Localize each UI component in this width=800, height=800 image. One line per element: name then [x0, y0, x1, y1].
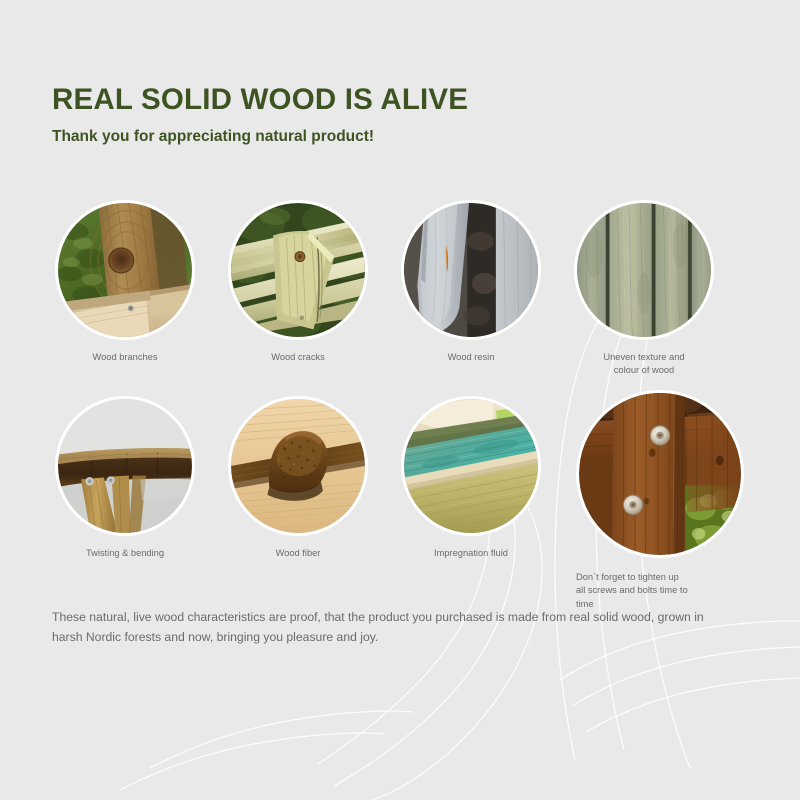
feature-caption-tighten-screws: Don`t forget to tighten up all screws an…: [576, 571, 736, 611]
feature-caption-wood-cracks: Wood cracks: [228, 351, 368, 364]
page-subtitle: Thank you for appreciating natural produ…: [52, 128, 468, 147]
feature-item-impregnation-fluid[interactable]: Impregnation fluid: [401, 396, 541, 560]
feature-item-tighten-screws[interactable]: Don`t forget to tighten up all screws an…: [576, 390, 744, 611]
feature-caption-wood-branches: Wood branches: [55, 351, 195, 364]
caption-line-1: Uneven texture and: [603, 352, 684, 362]
feature-item-wood-branches[interactable]: Wood branches: [55, 200, 195, 364]
feature-caption-wood-fiber: Wood fiber: [228, 547, 368, 560]
caption-line-2: colour of wood: [614, 365, 674, 375]
footer-note: These natural, live wood characteristics…: [52, 608, 712, 648]
header-block: REAL SOLID WOOD IS ALIVE Thank you for a…: [52, 84, 468, 147]
feature-caption-uneven-texture: Uneven texture and colour of wood: [574, 351, 714, 378]
feature-photo-wood-branches: [55, 200, 195, 340]
feature-caption-impregnation-fluid: Impregnation fluid: [401, 547, 541, 560]
feature-photo-wood-fiber: [228, 396, 368, 536]
feature-photo-tighten-screws: [576, 390, 744, 558]
feature-item-uneven-texture[interactable]: Uneven texture and colour of wood: [574, 200, 714, 378]
feature-item-wood-fiber[interactable]: Wood fiber: [228, 396, 368, 560]
feature-item-wood-cracks[interactable]: Wood cracks: [228, 200, 368, 364]
feature-caption-twisting-bending: Twisting & bending: [55, 547, 195, 560]
feature-photo-uneven-texture: [574, 200, 714, 340]
feature-photo-wood-resin: [401, 200, 541, 340]
caption-line-1: Don`t forget to tighten up: [576, 572, 679, 582]
feature-photo-wood-cracks: [228, 200, 368, 340]
feature-photo-twisting-bending: [55, 396, 195, 536]
feature-caption-wood-resin: Wood resin: [401, 351, 541, 364]
caption-line-2: all screws and bolts time to: [576, 585, 688, 595]
feature-photo-impregnation-fluid: [401, 396, 541, 536]
footer-note-line-1: These natural, live wood characteristics…: [52, 610, 618, 624]
poster-root: REAL SOLID WOOD IS ALIVE Thank you for a…: [0, 0, 800, 800]
page-title: REAL SOLID WOOD IS ALIVE: [52, 84, 468, 116]
feature-item-wood-resin[interactable]: Wood resin: [401, 200, 541, 364]
feature-item-twisting-bending[interactable]: Twisting & bending: [55, 396, 195, 560]
